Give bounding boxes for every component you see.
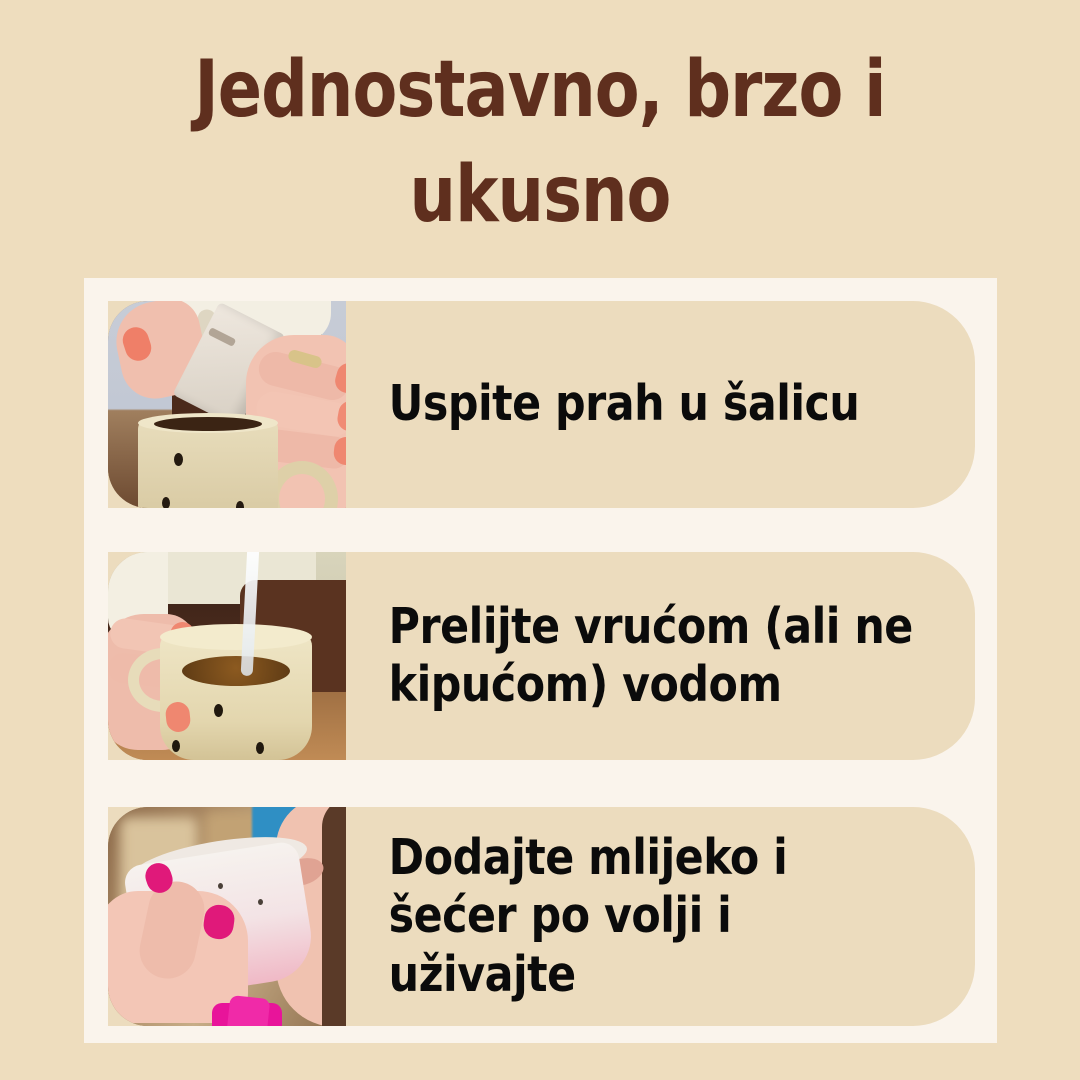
step-card-2[interactable]: Prelijte vrućom (ali ne kipućom) vodom [108,552,975,760]
step-card-1[interactable]: Uspite prah u šalicu [108,301,975,508]
steps-panel: Uspite prah u šalicu [84,278,997,1043]
step-1-label: Uspite prah u šalicu [346,301,956,508]
step-1-image [108,301,346,508]
step-3-label: Dodajte mlijeko i šećer po volji i uživa… [346,807,956,1026]
step-3-image [108,807,346,1026]
step-card-3[interactable]: Dodajte mlijeko i šećer po volji i uživa… [108,807,975,1026]
step-2-label: Prelijte vrućom (ali ne kipućom) vodom [346,552,956,760]
step-2-image [108,552,346,760]
page-title: Jednostavno, brzo i ukusno [38,38,1042,247]
poster: Jednostavno, brzo i ukusno [0,0,1080,1080]
